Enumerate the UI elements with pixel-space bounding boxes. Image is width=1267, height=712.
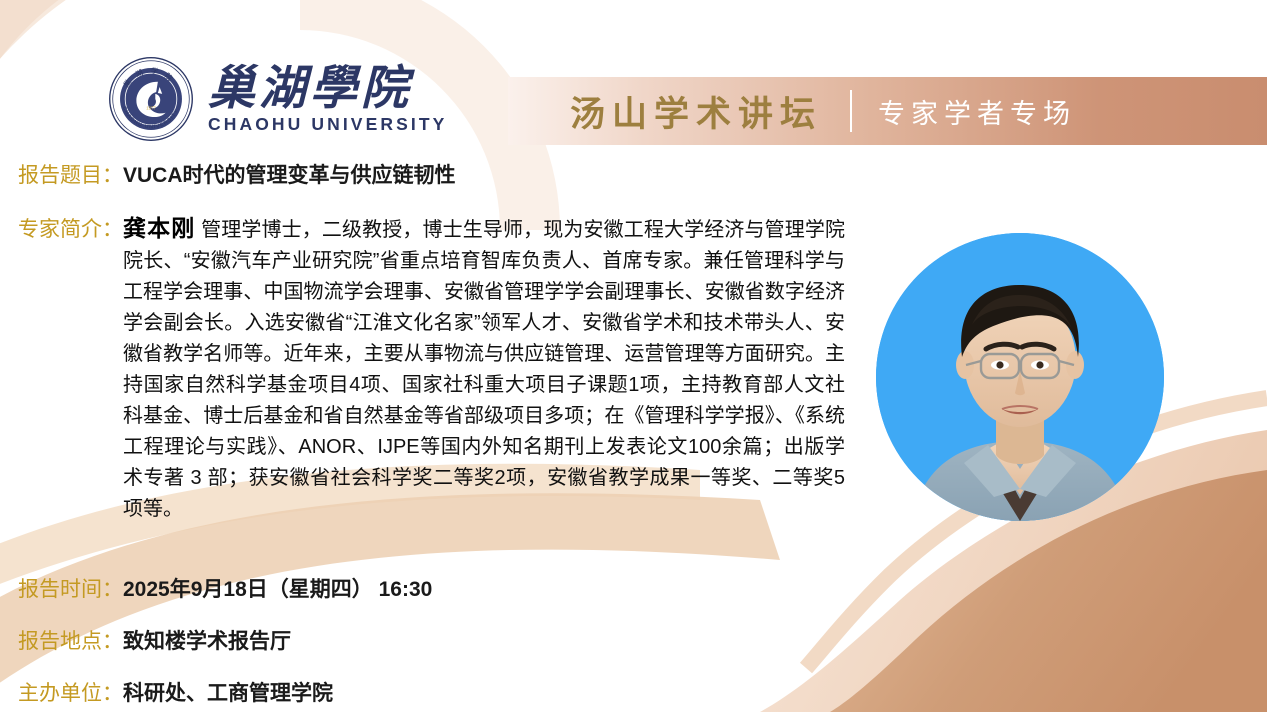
speaker-name: 龚本刚 [123, 215, 195, 241]
field-label-organizer: 主办单位： [18, 677, 123, 707]
field-row-place: 报告地点： 致知楼学术报告厅 [18, 625, 291, 655]
field-row-time: 报告时间： 2025年9月18日（星期四） 16:30 [18, 573, 432, 603]
field-label-bio: 专家简介： [18, 213, 123, 243]
field-value-organizer: 科研处、工商管理学院 [123, 677, 333, 707]
field-value-title: VUCA时代的管理变革与供应链韧性 [123, 159, 456, 189]
portrait-photo-icon [876, 233, 1164, 521]
field-label-title: 报告题目： [18, 159, 123, 189]
speaker-bio-text: 管理学博士，二级教授，博士生导师，现为安徽工程大学经济与管理学院院长、“安徽汽车… [123, 219, 845, 520]
field-row-title: 报告题目： VUCA时代的管理变革与供应链韧性 [18, 159, 456, 189]
field-value-place: 致知楼学术报告厅 [123, 625, 291, 655]
field-value-bio: 龚本刚 管理学博士，二级教授，博士生导师，现为安徽工程大学经济与管理学院院长、“… [123, 213, 845, 525]
speaker-portrait [876, 233, 1164, 521]
lecture-poster: 1977 巢 湖 学 院 CHAOHU UNIVERSITY 巢湖學院 CHAO… [0, 0, 1267, 712]
field-row-bio: 专家简介： 龚本刚 管理学博士，二级教授，博士生导师，现为安徽工程大学经济与管理… [18, 213, 845, 525]
field-value-time: 2025年9月18日（星期四） 16:30 [123, 573, 432, 603]
field-label-time: 报告时间： [18, 573, 123, 603]
field-label-place: 报告地点： [18, 625, 123, 655]
field-row-organizer: 主办单位： 科研处、工商管理学院 [18, 677, 333, 707]
